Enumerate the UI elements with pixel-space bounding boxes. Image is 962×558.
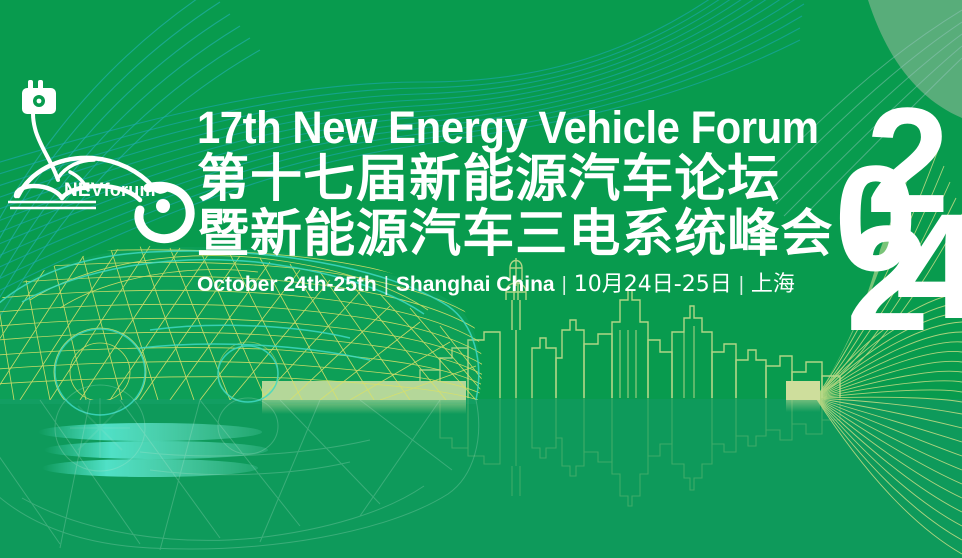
separator-3: | [732,274,751,296]
event-poster: NEVforum 2 0 2 4 17th New Energy Vehicle… [0,0,962,558]
year-digit-4: 4 [896,182,962,350]
date-english: October 24th-25th [197,273,377,296]
separator-2: | [555,274,574,296]
location-chinese: 上海 [751,272,795,297]
title-chinese-line-2: 暨新能源汽车三电系统峰会 [197,207,850,262]
location-english: Shanghai China [396,273,555,296]
logo-wordmark-nev: NEV [64,180,104,201]
separator-1: | [377,274,396,296]
date-chinese: 10月24日-25日 [574,272,732,297]
year-digit-2-top: 2 [866,76,944,244]
logo-wordmark-forum: forum [104,180,156,200]
podium-bar-right [786,381,820,400]
logo-wordmark: NEVforum [64,180,156,202]
year-digit-2-bottom: 2 [846,194,924,362]
headline-block: 17th New Energy Vehicle Forum 第十七届新能源汽车论… [197,104,837,297]
podium-bar [262,381,466,400]
podium-bar-reflection [262,400,466,414]
title-english: 17th New Energy Vehicle Forum [197,104,792,152]
event-date-location-line: October 24th-25th|Shanghai China|10月24日-… [197,273,837,297]
reflection-band [0,399,962,558]
podium-bar-right-reflection [786,400,820,412]
title-chinese-line-1: 第十七届新能源汽车论坛 [197,152,850,207]
